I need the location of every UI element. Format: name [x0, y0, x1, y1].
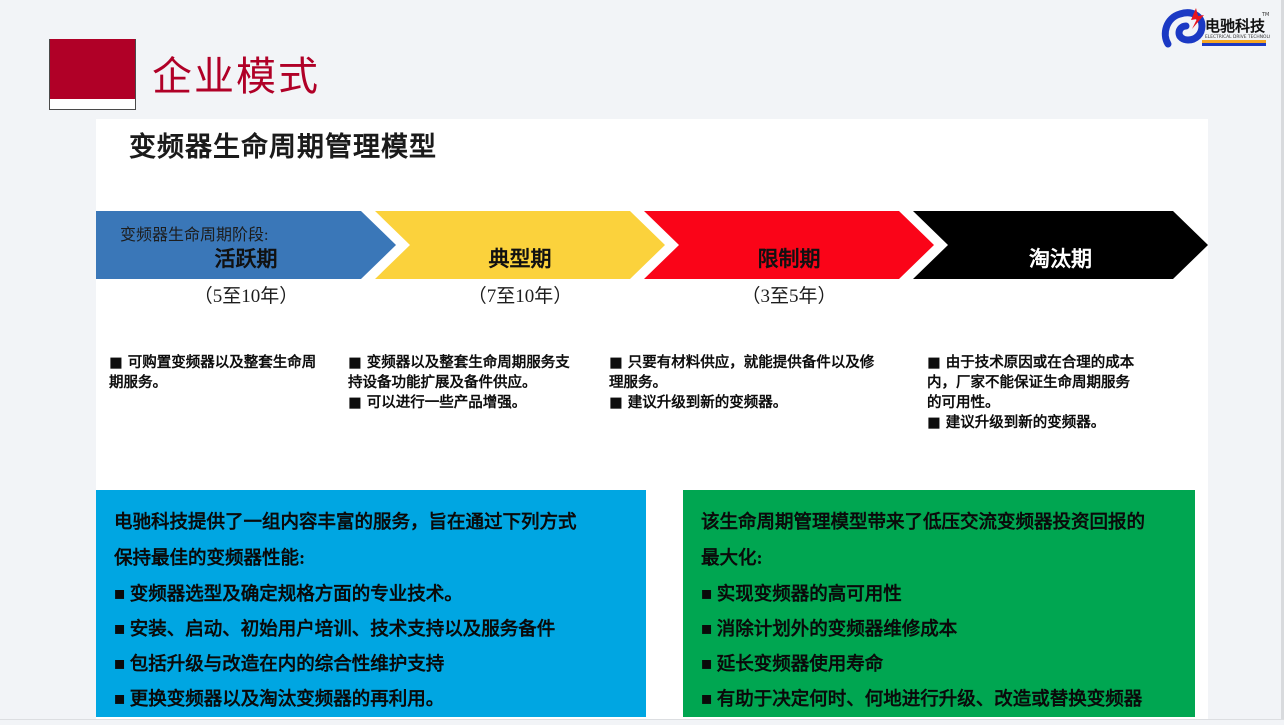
title-accent-strip [50, 99, 135, 109]
phase-duration: （3至5年） [644, 281, 934, 308]
description-line: ■ 变频器以及整套生命周期服务支 [348, 354, 596, 373]
callout-lead-line: 最大化: [701, 542, 1180, 576]
callout-lead-line: 该生命周期管理模型带来了低压交流变频器投资回报的 [701, 506, 1180, 540]
title-accent-box [49, 39, 136, 110]
phase-description-columns: ■ 可购置变频器以及整套生命周 期服务。 ■ 变频器以及整套生命周期服务支 持设… [96, 354, 1208, 464]
description-line: ■ 只要有材料供应，就能提供备件以及修 [609, 354, 879, 373]
phase-description-column: ■ 可购置变频器以及整套生命周 期服务。 [109, 354, 349, 394]
description-line: ■ 由于技术原因或在合理的成本 [927, 354, 1183, 373]
phase-description-column: ■ 只要有材料供应，就能提供备件以及修 理服务。 ■ 建议升级到新的变频器。 [609, 354, 879, 414]
slide-header: 企业模式 电驰科技 ELECTRICAL DRIVE TECHNOLOGY TM [0, 0, 1284, 119]
description-line: ■ 建议升级到新的变频器。 [927, 414, 1183, 433]
bottom-divider [0, 719, 1284, 725]
logo-mark-icon: 电驰科技 ELECTRICAL DRIVE TECHNOLOGY TM [1158, 4, 1270, 52]
phase-label: 典型期 [489, 243, 552, 279]
phase-duration: （7至10年） [375, 281, 665, 308]
content-panel: 变频器生命周期管理模型 活跃期 典型期 限制期 淘汰期 变频器生命周期阶段: （… [96, 119, 1208, 725]
callout-box-services: 电驰科技提供了一组内容丰富的服务，旨在通过下列方式 保持最佳的变频器性能: ■ … [96, 490, 646, 717]
company-logo: 电驰科技 ELECTRICAL DRIVE TECHNOLOGY TM [1158, 4, 1270, 52]
svg-text:电驰科技: 电驰科技 [1205, 17, 1266, 35]
callout-lead-line: 保持最佳的变频器性能: [114, 542, 631, 576]
phase-duration-row: （5至10年） （7至10年） （3至5年） [96, 281, 1208, 311]
description-line: 理服务。 [609, 374, 879, 393]
phase-duration: （5至10年） [96, 281, 396, 308]
lifecycle-phase-band: 活跃期 典型期 限制期 淘汰期 变频器生命周期阶段: [96, 211, 1208, 279]
callout-bullet: ■ 安装、启动、初始用户培训、技术支持以及服务备件 [114, 613, 631, 648]
phase-chevron-classic[interactable]: 典型期 [375, 211, 665, 279]
description-line: 的可用性。 [927, 394, 1183, 413]
phase-label: 活跃期 [215, 243, 278, 279]
page-title: 企业模式 [152, 44, 320, 102]
svg-text:ELECTRICAL DRIVE TECHNOLOGY: ELECTRICAL DRIVE TECHNOLOGY [1205, 34, 1270, 40]
description-line: ■ 建议升级到新的变频器。 [609, 394, 879, 413]
phase-description-column: ■ 变频器以及整套生命周期服务支 持设备功能扩展及备件供应。 ■ 可以进行一些产… [348, 354, 596, 414]
callout-bullet: ■ 消除计划外的变频器维修成本 [701, 613, 1180, 648]
callout-bullet: ■ 包括升级与改造在内的综合性维护支持 [114, 648, 631, 683]
callout-lead-line: 电驰科技提供了一组内容丰富的服务，旨在通过下列方式 [114, 506, 631, 540]
description-line: 期服务。 [109, 374, 349, 393]
callout-bullet: ■ 实现变频器的高可用性 [701, 578, 1180, 613]
callout-box-benefits: 该生命周期管理模型带来了低压交流变频器投资回报的 最大化: ■ 实现变频器的高可… [683, 490, 1195, 717]
callout-bullet: ■ 有助于决定何时、何地进行升级、改造或替换变频器 [701, 683, 1180, 718]
callout-bullet: ■ 变频器选型及确定规格方面的专业技术。 [114, 578, 631, 613]
stage-caption: 变频器生命周期阶段: [120, 221, 268, 245]
description-line: 内，厂家不能保证生命周期服务 [927, 374, 1183, 393]
svg-text:TM: TM [1261, 12, 1269, 18]
callout-bullet: ■ 更换变频器以及淘汰变频器的再利用。 [114, 683, 631, 718]
callout-boxes: 电驰科技提供了一组内容丰富的服务，旨在通过下列方式 保持最佳的变频器性能: ■ … [96, 490, 1208, 725]
phase-chevron-limited[interactable]: 限制期 [644, 211, 934, 279]
panel-title: 变频器生命周期管理模型 [129, 125, 437, 164]
description-line: ■ 可以进行一些产品增强。 [348, 394, 596, 413]
description-line: ■ 可购置变频器以及整套生命周 [109, 354, 349, 373]
phase-label: 限制期 [758, 243, 821, 279]
callout-bullet: ■ 延长变频器使用寿命 [701, 648, 1180, 683]
slide-canvas: 企业模式 电驰科技 ELECTRICAL DRIVE TECHNOLOGY TM… [0, 0, 1284, 725]
phase-chevron-obsolete[interactable]: 淘汰期 [913, 211, 1208, 279]
description-line: 持设备功能扩展及备件供应。 [348, 374, 596, 393]
phase-description-column: ■ 由于技术原因或在合理的成本 内，厂家不能保证生命周期服务 的可用性。 ■ 建… [927, 354, 1183, 433]
phase-label: 淘汰期 [1029, 243, 1092, 279]
